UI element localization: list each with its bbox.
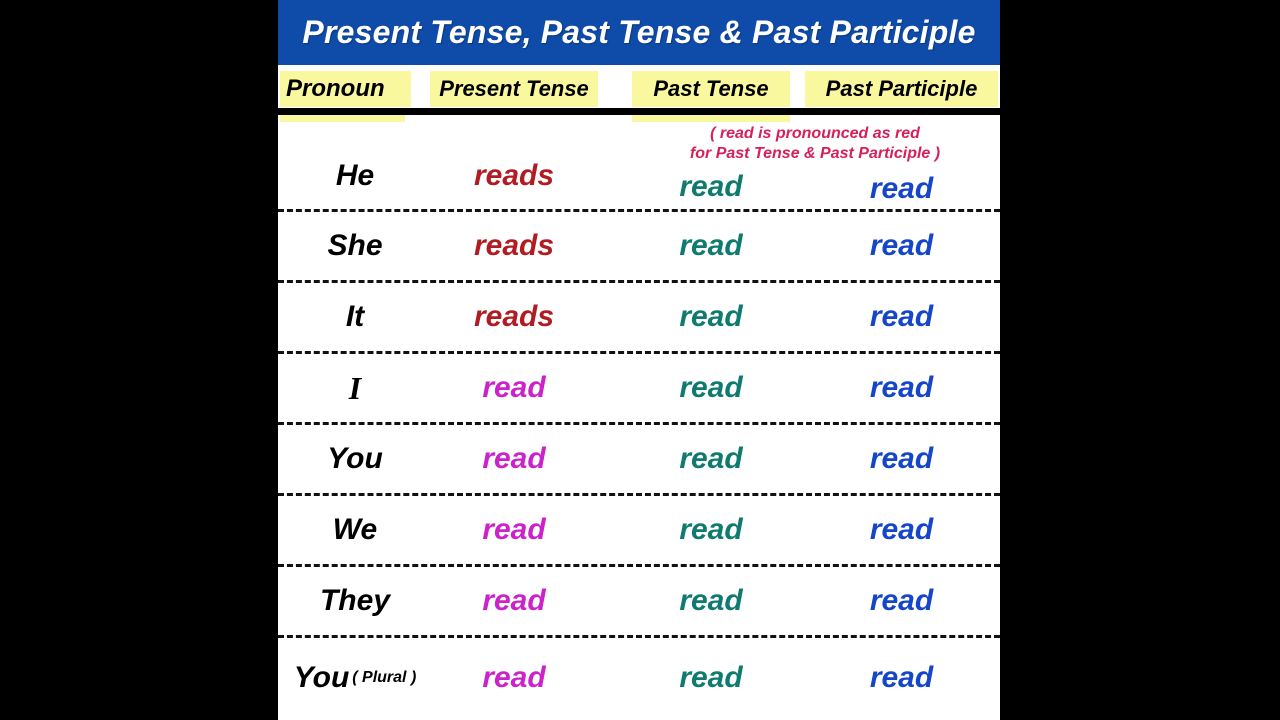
cell-pronoun: She [280,211,430,282]
column-header-pronoun: Pronoun [280,71,411,107]
column-header-past-tense: Past Tense [632,71,790,107]
past-tense-text: read [679,300,742,334]
present-tense-text: read [482,371,545,405]
present-tense-text: read [482,513,545,547]
cell-past-participle: read [805,566,998,637]
past-tense-text: read [679,584,742,618]
conjugation-table-body: ( read is pronounced as redfor Past Tens… [278,122,1000,718]
cell-present-tense: read [430,566,598,637]
pronunciation-note-line2: for Past Tense & Past Participle ) [632,144,998,164]
cell-present-tense: reads [430,140,598,212]
table-row: Theyreadreadread [278,567,1000,638]
cell-present-tense: reads [430,211,598,282]
column-header-pronoun-label: Pronoun [286,75,385,103]
cell-pronoun: You( Plural ) [280,638,430,718]
pronoun-text: They [320,584,390,618]
cell-pronoun: He [280,140,430,212]
cell-past-participle: read [805,282,998,353]
cell-pronoun: They [280,566,430,637]
past-participle-text: read [870,371,933,405]
present-tense-text: reads [474,229,554,263]
cell-present-tense: read [430,353,598,424]
past-tense-text: read [679,661,742,695]
pronoun-text: It [346,300,364,334]
past-participle-text: read [870,584,933,618]
table-row: Itreadsreadread [278,283,1000,354]
table-row: You( Plural )readreadread [278,638,1000,718]
present-tense-text: read [482,442,545,476]
column-header-past-participle: Past Participle [805,71,998,107]
past-tense-text: read [679,371,742,405]
cell-pronoun: It [280,282,430,353]
past-participle-text: read [870,300,933,334]
pronoun-text: We [333,513,377,547]
pronoun-text: He [336,159,374,193]
cell-past-tense: read [632,495,790,566]
content-panel: Present Tense, Past Tense & Past Partici… [278,0,1000,720]
past-participle-text: read [870,172,933,206]
table-row: Shereadsreadread [278,212,1000,283]
table-row: Wereadreadread [278,496,1000,567]
page-title: Present Tense, Past Tense & Past Partici… [302,14,975,51]
cell-past-participle: read [805,424,998,495]
cell-pronoun: I [280,353,430,424]
past-participle-text: read [870,229,933,263]
cell-past-tense: read [632,638,790,718]
present-tense-text: reads [474,159,554,193]
cell-past-tense: read [632,566,790,637]
cell-past-participle: read [805,353,998,424]
past-tense-text: read [679,229,742,263]
cell-present-tense: read [430,638,598,718]
present-tense-text: read [482,661,545,695]
table-header-row: Pronoun Present Tense Past Tense Past Pa… [278,65,1000,110]
cell-past-participle: read [805,166,998,212]
pronoun-note: ( Plural ) [352,669,416,687]
past-tense-text: read [679,170,742,204]
cell-past-tense: read [632,211,790,282]
cell-past-tense: read [632,282,790,353]
screen: Present Tense, Past Tense & Past Partici… [0,0,1280,720]
cell-past-participle: read [805,495,998,566]
pronoun-text: You [294,661,350,695]
cell-present-tense: read [430,424,598,495]
cell-pronoun: You [280,424,430,495]
column-header-present-tense-label: Present Tense [439,76,589,102]
column-header-past-tense-label: Past Tense [653,76,768,102]
pronoun-text: I [349,370,361,407]
present-tense-text: reads [474,300,554,334]
header-accent-pronoun [280,115,405,122]
header-divider [278,108,1000,115]
past-participle-text: read [870,661,933,695]
column-header-present-tense: Present Tense [430,71,598,107]
past-participle-text: read [870,513,933,547]
pronunciation-note: ( read is pronounced as redfor Past Tens… [632,124,998,164]
table-row: Youreadreadread [278,425,1000,496]
pronunciation-note-line1: ( read is pronounced as red [710,125,920,142]
present-tense-text: read [482,584,545,618]
table-row: Ireadreadread [278,354,1000,425]
pronoun-text: She [327,229,382,263]
cell-present-tense: reads [430,282,598,353]
table-row: ( read is pronounced as redfor Past Tens… [278,122,1000,212]
cell-past-participle: read [805,638,998,718]
header-accent-past-tense [632,115,790,122]
pronoun-text: You [327,442,383,476]
column-header-past-participle-label: Past Participle [826,76,978,102]
past-tense-text: read [679,513,742,547]
cell-pronoun: We [280,495,430,566]
cell-past-tense: read [632,162,790,212]
past-tense-text: read [679,442,742,476]
cell-past-participle: read [805,211,998,282]
title-bar: Present Tense, Past Tense & Past Partici… [278,0,1000,65]
cell-past-tense: read [632,424,790,495]
cell-present-tense: read [430,495,598,566]
cell-past-tense: read [632,353,790,424]
past-participle-text: read [870,442,933,476]
